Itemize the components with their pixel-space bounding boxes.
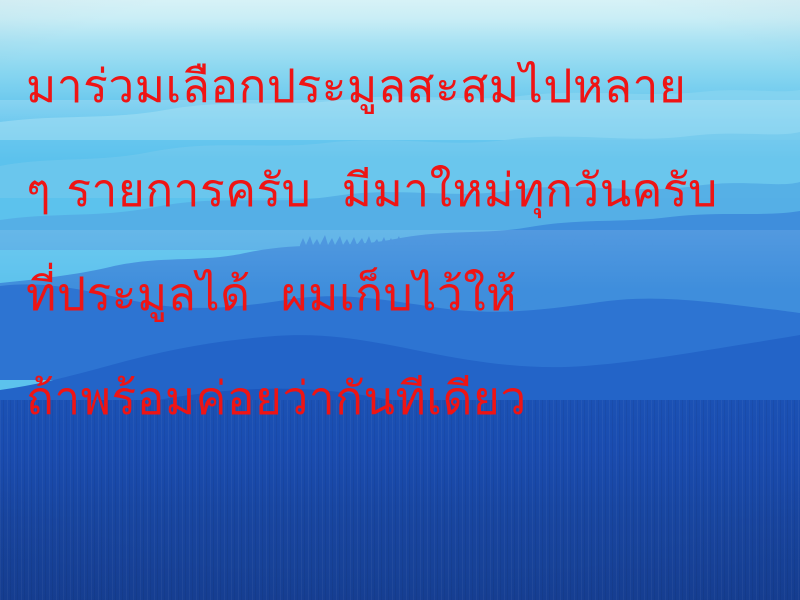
caption-line-3: ที่ประมูลได้ ผมเก็บไว้ให้ bbox=[26, 242, 800, 346]
caption-line-2: ๆ รายการครับ มีมาใหม่ทุกวันครับ bbox=[26, 138, 800, 242]
caption-line-1: มาร่วมเลือกประมูลสะสมไปหลาย bbox=[26, 34, 800, 138]
banner-image: มาร่วมเลือกประมูลสะสมไปหลาย ๆ รายการครับ… bbox=[0, 0, 800, 600]
caption-overlay: มาร่วมเลือกประมูลสะสมไปหลาย ๆ รายการครับ… bbox=[0, 0, 800, 600]
caption-line-4: ถ้าพร้อมค่อยว่ากันทีเดียว bbox=[26, 346, 800, 450]
